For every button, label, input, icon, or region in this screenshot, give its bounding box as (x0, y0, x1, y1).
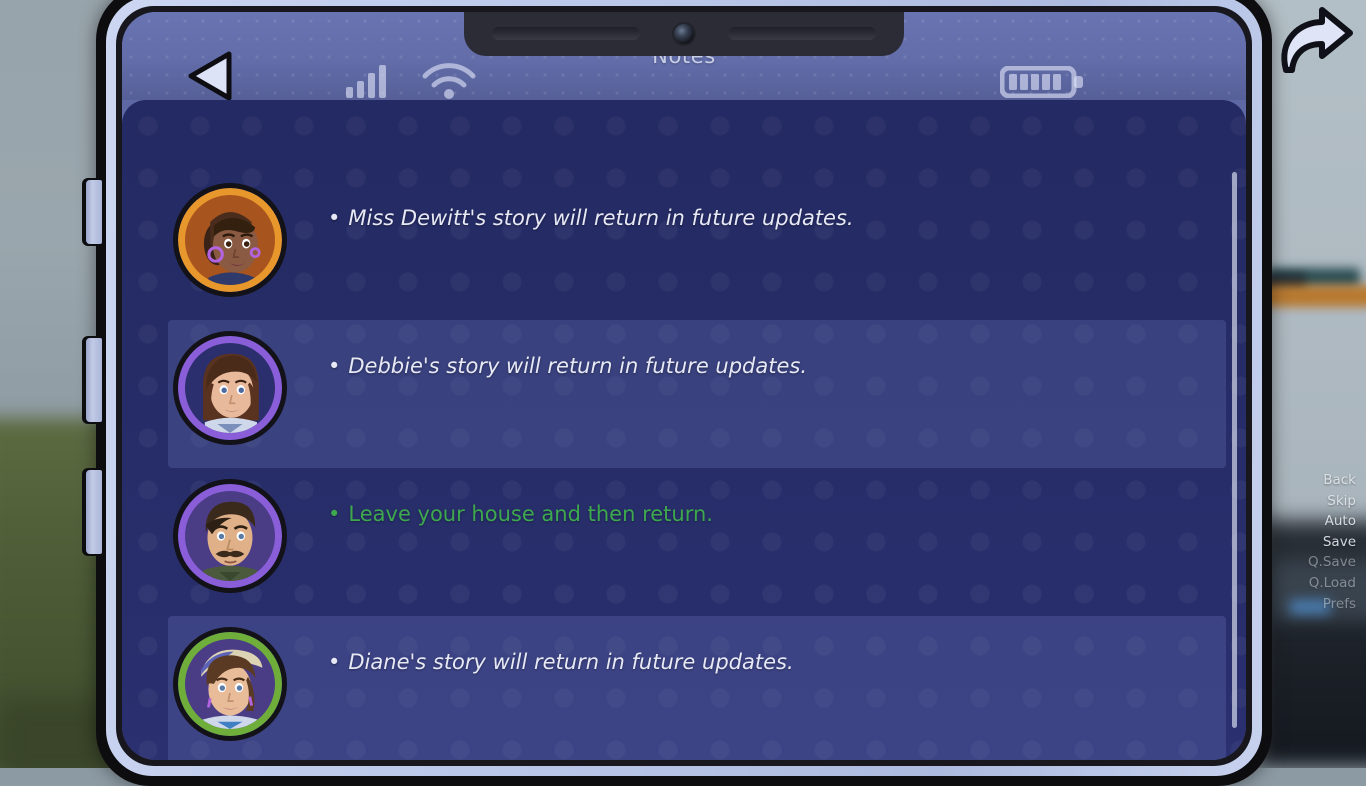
note-text: •Miss Dewitt's story will return in futu… (328, 204, 1188, 232)
power-button[interactable] (86, 470, 102, 554)
note-label: Debbie's story will return in future upd… (348, 354, 807, 378)
quick-menu-item-prefs[interactable]: Prefs (1323, 594, 1356, 615)
note-row[interactable]: •Leave your house and then return. (168, 468, 1226, 616)
redo-arrow-icon[interactable] (1268, 6, 1356, 82)
volume-up-button[interactable] (86, 180, 102, 244)
avatar-portrait (185, 195, 275, 285)
note-row[interactable]: •Debbie's story will return in future up… (168, 320, 1226, 468)
quick-menu-item-save[interactable]: Save (1323, 532, 1356, 553)
note-label: Leave your house and then return. (348, 502, 713, 526)
note-text: •Diane's story will return in future upd… (328, 648, 1188, 676)
quick-menu-item-q-load[interactable]: Q.Load (1309, 573, 1356, 594)
camera-lens-icon (674, 24, 694, 44)
note-text: •Leave your house and then return. (328, 500, 1188, 528)
quick-menu-item-back[interactable]: Back (1323, 470, 1356, 491)
note-bullet: • (328, 648, 340, 676)
note-label: Miss Dewitt's story will return in futur… (348, 206, 853, 230)
phone-notch (464, 12, 904, 56)
phone-screen: Notes •Miss Dewitt's story will return i… (122, 12, 1246, 760)
background-shelf (1262, 285, 1366, 307)
avatar-portrait (185, 639, 275, 729)
quick-menu-item-auto[interactable]: Auto (1325, 511, 1356, 532)
volume-down-button[interactable] (86, 338, 102, 422)
note-bullet: • (328, 204, 340, 232)
note-bullet: • (328, 352, 340, 380)
notes-scrollbar[interactable] (1232, 172, 1237, 728)
note-row[interactable]: •Miss Dewitt's story will return in futu… (168, 172, 1226, 320)
avatar (178, 188, 282, 292)
note-bullet: • (328, 500, 340, 528)
notes-list: •Miss Dewitt's story will return in futu… (122, 100, 1246, 760)
avatar (178, 484, 282, 588)
notes-panel: •Miss Dewitt's story will return in futu… (122, 100, 1246, 760)
speaker-grille-icon (492, 27, 640, 40)
avatar-portrait (185, 343, 275, 433)
avatar (178, 632, 282, 736)
avatar (178, 336, 282, 440)
note-text: •Debbie's story will return in future up… (328, 352, 1188, 380)
note-row[interactable]: •Diane's story will return in future upd… (168, 616, 1226, 760)
speaker-grille-icon (728, 27, 876, 40)
quick-menu-item-q-save[interactable]: Q.Save (1308, 552, 1356, 573)
avatar-portrait (185, 491, 275, 581)
quick-menu: BackSkipAutoSaveQ.SaveQ.LoadPrefs (1280, 470, 1356, 614)
note-label: Diane's story will return in future upda… (348, 650, 793, 674)
phone-device: Notes •Miss Dewitt's story will return i… (96, 0, 1272, 786)
quick-menu-item-skip[interactable]: Skip (1327, 491, 1356, 512)
